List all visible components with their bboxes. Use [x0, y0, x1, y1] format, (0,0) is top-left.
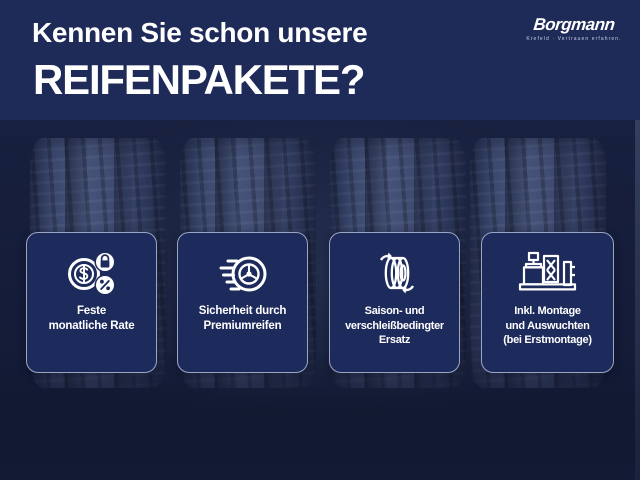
right-edge-highlight — [635, 120, 640, 480]
card-4-line-3: (bei Erstmontage) — [503, 334, 591, 346]
header-band: Kennen Sie schon unsere REIFENPAKETE? Bo… — [0, 0, 640, 120]
feature-card-label-4: Inkl. Montage und Auswuchten (bei Erstmo… — [497, 304, 597, 348]
feature-card-label-3: Saison- und verschleißbedingter Ersatz — [339, 304, 450, 348]
feature-card-feste-rate[interactable]: Feste monatliche Rate — [26, 232, 157, 373]
logo-tagline: Krefeld · Vertrauen erfahren. — [518, 35, 630, 43]
headline-line-2: REIFENPAKETE? — [33, 55, 364, 105]
card-2-line-2: Premiumreifen — [204, 320, 282, 332]
logo-wordmark: Borgmann — [517, 16, 631, 34]
feature-card-ersatz[interactable]: Saison- und verschleißbedingter Ersatz — [329, 232, 460, 373]
rolling-wheel-icon — [214, 246, 272, 300]
feature-card-premiumreifen[interactable]: Sicherheit durch Premiumreifen — [177, 232, 308, 373]
card-3-line-1: Saison- und — [365, 305, 425, 317]
feature-card-montage[interactable]: Inkl. Montage und Auswuchten (bei Erstmo… — [481, 232, 614, 373]
card-3-line-2: verschleißbedingter — [345, 320, 444, 332]
feature-card-label-2: Sicherheit durch Premiumreifen — [193, 304, 293, 334]
headline-line-1: Kennen Sie schon unsere — [32, 16, 367, 50]
card-1-line-1: Feste — [77, 305, 106, 317]
tire-stack-exchange-icon — [366, 246, 424, 300]
tire-mounting-machine-icon — [517, 246, 579, 300]
card-3-line-3: Ersatz — [379, 334, 410, 346]
card-4-line-2: und Auswuchten — [505, 320, 589, 332]
card-4-line-1: Inkl. Montage — [514, 305, 580, 317]
coin-lock-percent-icon — [64, 246, 120, 300]
borgmann-logo[interactable]: Borgmann Krefeld · Vertrauen erfahren. — [518, 16, 630, 48]
card-2-line-1: Sicherheit durch — [199, 305, 287, 317]
card-1-line-2: monatliche Rate — [49, 320, 135, 332]
feature-card-label-1: Feste monatliche Rate — [43, 304, 141, 334]
tire-package-banner: Kennen Sie schon unsere REIFENPAKETE? Bo… — [0, 0, 640, 480]
